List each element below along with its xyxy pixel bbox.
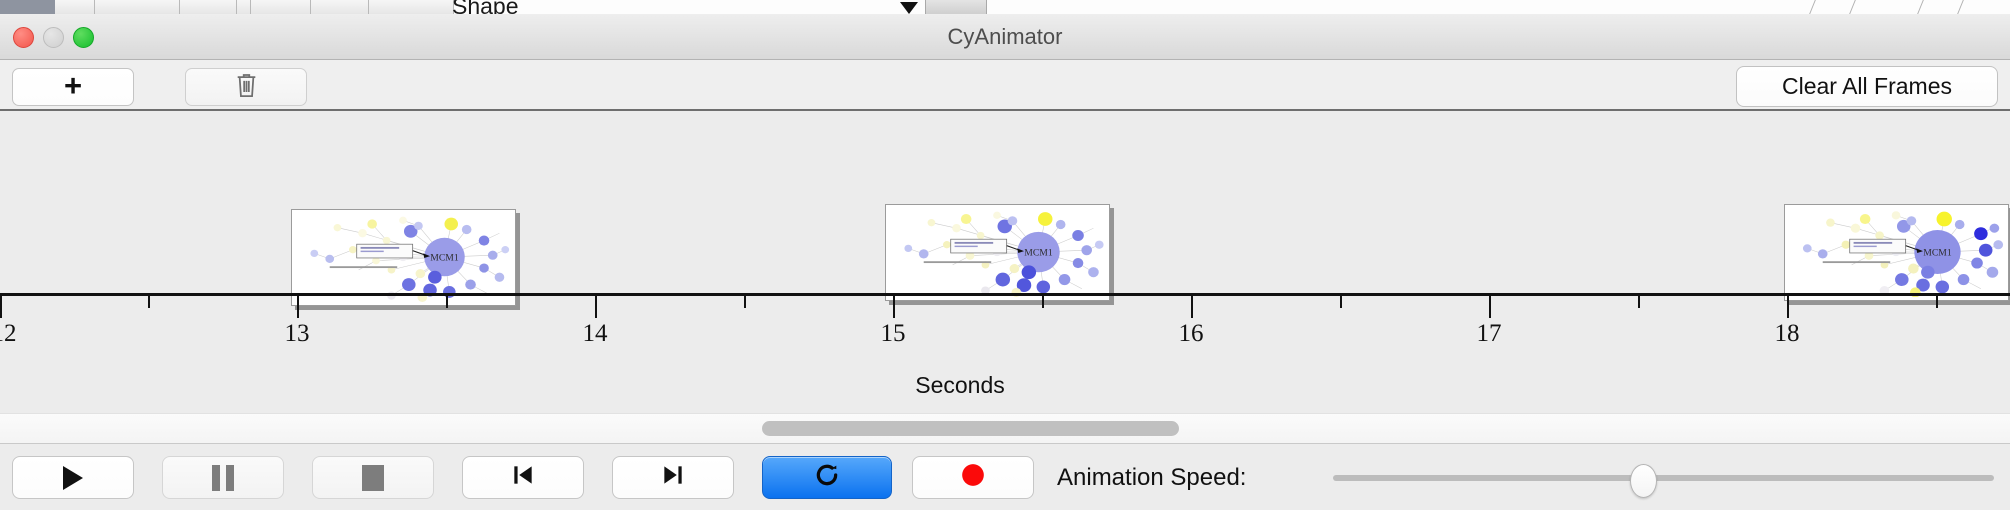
minimize-button[interactable] — [43, 27, 64, 48]
ruler-tick-minor — [744, 296, 746, 308]
network-thumbnail-3: MCM1 — [1788, 208, 2005, 297]
ruler-tick-major — [893, 296, 895, 318]
animation-speed-label: Animation Speed: — [1057, 444, 1246, 510]
slider-track[interactable] — [1333, 475, 1994, 481]
record-icon — [960, 462, 986, 493]
ruler-tick-minor — [1936, 296, 1938, 308]
axis-caption: Seconds — [0, 372, 2010, 399]
titlebar: CyAnimator — [0, 14, 2010, 60]
ruler-tick-minor — [446, 296, 448, 308]
skip-to-end-button[interactable] — [612, 456, 734, 499]
delete-frame-button[interactable] — [185, 68, 307, 106]
stop-icon — [362, 465, 384, 491]
axis-caption-text: Seconds — [915, 372, 1005, 398]
network-thumbnail-1: MCM1 — [295, 213, 512, 302]
ruler-tick-major — [1191, 296, 1193, 318]
ruler-label: 13 — [285, 320, 310, 348]
pause-icon — [212, 465, 234, 491]
ruler-tick-major — [595, 296, 597, 318]
play-button[interactable] — [12, 456, 134, 499]
pause-button[interactable] — [162, 456, 284, 499]
ruler-tick-major — [297, 296, 299, 318]
ruler-tick-minor — [1638, 296, 1640, 308]
keyframe-thumbnail[interactable]: MCM1 — [291, 209, 516, 306]
animation-speed-slider[interactable] — [1333, 444, 1994, 510]
ruler-label: 12 — [0, 320, 17, 348]
background-window-strip: Shape — [0, 0, 2010, 14]
record-button[interactable] — [912, 456, 1034, 499]
ruler-label: 16 — [1179, 320, 1204, 348]
scroll-thumb[interactable] — [762, 421, 1179, 436]
keyframe-thumbnail[interactable]: MCM1 — [1784, 204, 2009, 301]
timeline-ruler[interactable]: 12 13 14 15 16 17 18 — [0, 293, 2010, 353]
stop-button[interactable] — [312, 456, 434, 499]
background-grip — [925, 0, 987, 14]
add-frame-button[interactable]: + — [12, 68, 134, 106]
svg-text:MCM1: MCM1 — [1024, 249, 1053, 259]
network-thumbnail-2: MCM1 — [889, 208, 1106, 297]
window-title: CyAnimator — [0, 14, 2010, 60]
cyanimator-window: Shape CyAnimator + — [0, 0, 2010, 510]
ruler-tick-minor — [1042, 296, 1044, 308]
horizontal-scrollbar[interactable] — [0, 413, 2010, 443]
ruler-label: 15 — [881, 320, 906, 348]
playback-control-bar: Animation Speed: — [0, 443, 2010, 510]
ruler-label: 17 — [1477, 320, 1502, 348]
background-caret-icon — [900, 2, 918, 14]
skip-to-start-icon — [510, 462, 536, 493]
play-icon — [63, 466, 83, 490]
trash-icon — [235, 72, 258, 103]
ruler-tick-major — [1489, 296, 1491, 318]
ruler-tick-minor — [1340, 296, 1342, 308]
timeline-panel[interactable]: MCM1 — [0, 111, 2010, 413]
svg-text:MCM1: MCM1 — [1923, 249, 1952, 259]
ruler-label: 14 — [583, 320, 608, 348]
close-button[interactable] — [13, 27, 34, 48]
maximize-button[interactable] — [73, 27, 94, 48]
plus-icon: + — [64, 70, 82, 101]
keyframe-thumbnail[interactable]: MCM1 — [885, 204, 1110, 301]
ruler-tick-major — [0, 296, 2, 318]
skip-to-start-button[interactable] — [462, 456, 584, 499]
skip-to-end-icon — [660, 462, 686, 493]
loop-toggle-button[interactable] — [762, 456, 892, 499]
background-window-titlebar — [0, 0, 55, 14]
toolbar: + Clear All Frames — [0, 60, 2010, 111]
ruler-tick-minor — [148, 296, 150, 308]
ruler-baseline — [0, 293, 2010, 296]
slider-thumb[interactable] — [1630, 464, 1657, 498]
clear-all-frames-button[interactable]: Clear All Frames — [1736, 66, 1998, 107]
traffic-light-group — [13, 27, 94, 48]
ruler-label: 18 — [1775, 320, 1800, 348]
svg-text:MCM1: MCM1 — [430, 254, 459, 264]
background-window-label: Shape — [452, 0, 519, 14]
ruler-tick-major — [1787, 296, 1789, 318]
loop-icon — [814, 462, 840, 493]
